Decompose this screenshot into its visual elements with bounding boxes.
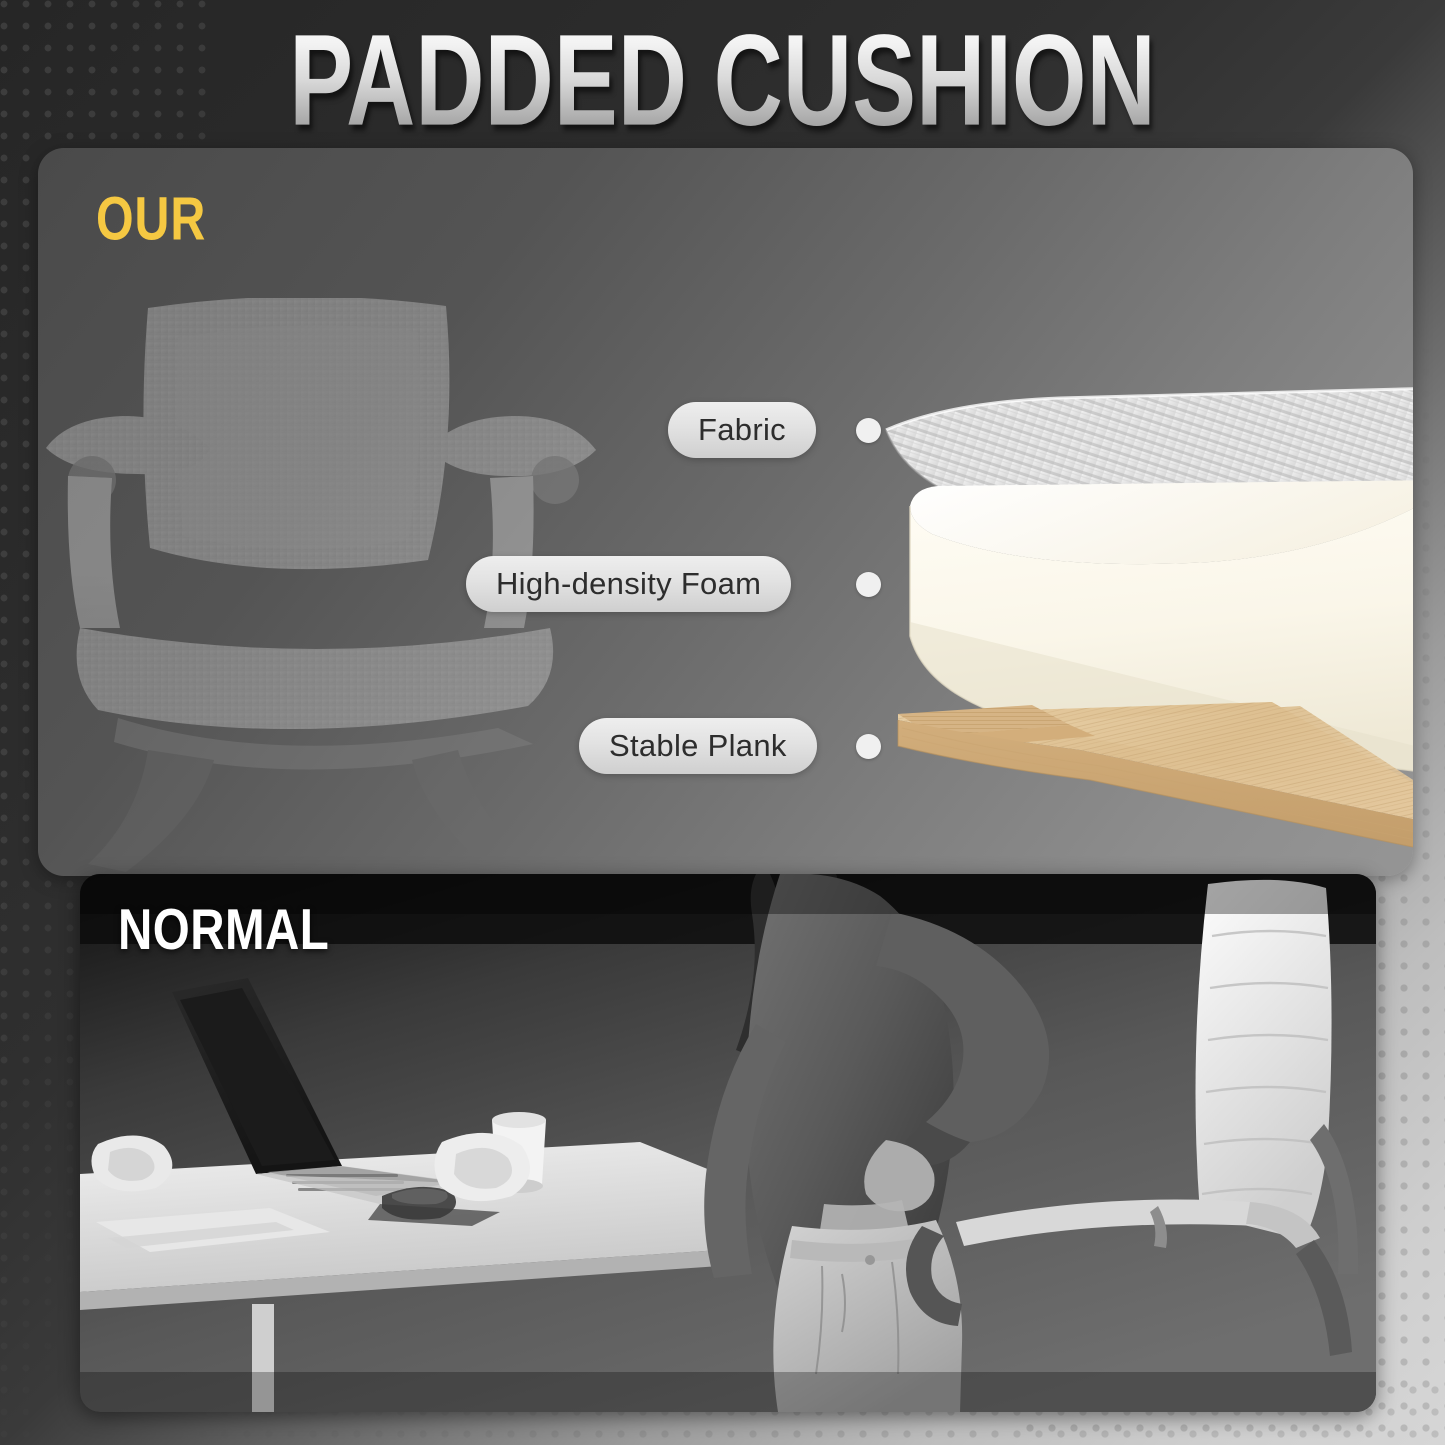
callout-high-density-foam: High-density Foam bbox=[466, 556, 791, 612]
our-label: OUR bbox=[96, 184, 206, 255]
callout-stable-plank: Stable Plank bbox=[579, 718, 817, 774]
cushion-cross-section-illustration bbox=[880, 384, 1413, 876]
page-title: PADDED CUSHION bbox=[0, 6, 1445, 155]
our-panel: OUR bbox=[38, 148, 1413, 876]
connector-dot-fabric-icon bbox=[856, 418, 881, 443]
callout-fabric: Fabric bbox=[668, 402, 816, 458]
infographic-root: PADDED CUSHION bbox=[0, 0, 1445, 1445]
normal-panel: NORMAL bbox=[80, 874, 1376, 1412]
normal-label: NORMAL bbox=[118, 896, 329, 963]
connector-dot-foam-icon bbox=[856, 572, 881, 597]
connector-dot-plank-icon bbox=[856, 734, 881, 759]
